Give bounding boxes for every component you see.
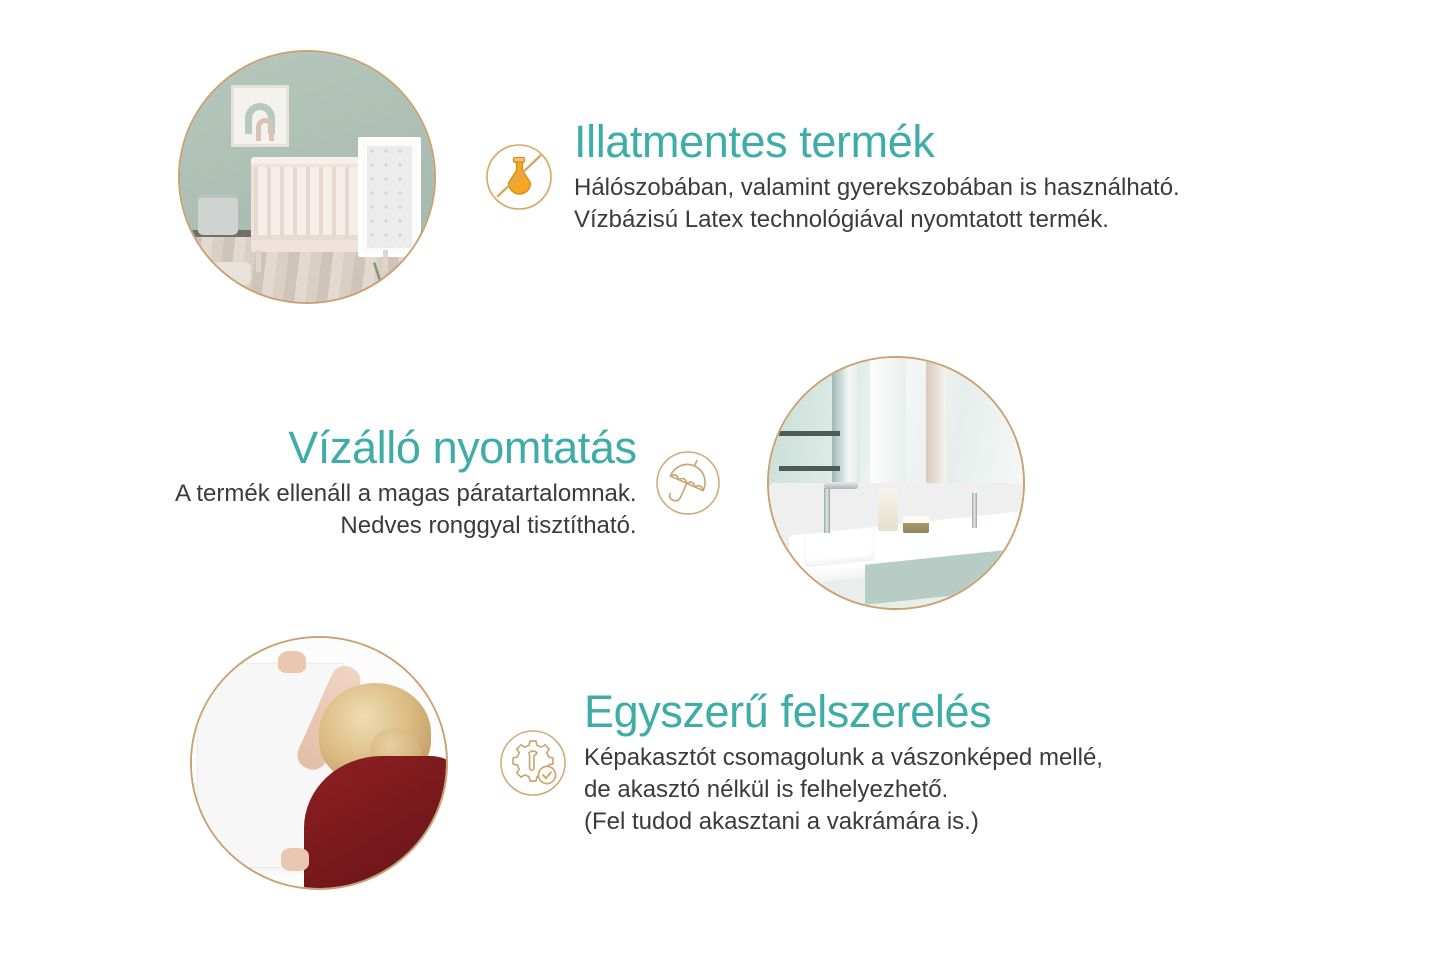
feature-description: Képakasztót csomagolunk a vászonképed me… xyxy=(584,742,1103,838)
bathroom-basin xyxy=(804,527,875,567)
lower-hand xyxy=(281,848,309,871)
crib-headboard xyxy=(358,137,422,257)
soap-bottle xyxy=(878,488,898,531)
nursery-room-photo xyxy=(180,52,434,302)
feature-block-illatmentes-termek: Illatmentes termék Hálószobában, valamin… xyxy=(180,52,1180,302)
chrome-faucet xyxy=(824,488,830,533)
gear-wrench-check-icon xyxy=(496,726,570,800)
hanging-canvas-photo xyxy=(192,638,446,888)
feature-title: Vízálló nyomtatás xyxy=(175,424,637,473)
feature-description-line: Hálószobában, valamint gyerekszobában is… xyxy=(574,172,1180,204)
bathroom-shelf-upper xyxy=(779,431,840,436)
bathroom-sink-photo-art xyxy=(769,358,1023,608)
feature-description-line: A termék ellenáll a magas páratartalomna… xyxy=(175,478,637,510)
toy-object xyxy=(198,195,239,235)
floor-rug xyxy=(195,262,251,285)
feature-block-egyszeru-felszereles: Egyszerű felszerelés Képakasztót csomago… xyxy=(192,638,1103,888)
feature-description-line: Vízbázisú Latex technológiával nyomtatot… xyxy=(574,204,1180,236)
feature-text-vizallo-nyomtatas: Vízálló nyomtatás A termék ellenáll a ma… xyxy=(175,424,637,541)
feature-description-line: de akasztó nélkül is felhelyezhető. xyxy=(584,774,1103,806)
no-fragrance-bottle-icon xyxy=(482,140,556,214)
nursery-art-frame xyxy=(231,85,289,148)
raised-hand xyxy=(278,651,306,674)
feature-description-line: (Fel tudod akasztani a vakrámára is.) xyxy=(584,806,1103,838)
tufted-panel xyxy=(367,146,413,248)
feature-description-line: Nedves ronggyal tisztítható. xyxy=(175,510,637,542)
feature-description: A termék ellenáll a magas páratartalomna… xyxy=(175,478,637,542)
feature-title: Egyszerű felszerelés xyxy=(584,688,1103,737)
rainbow-illustration xyxy=(245,103,274,134)
bathroom-shelf-lower xyxy=(779,466,840,471)
feature-text-egyszeru-felszereles: Egyszerű felszerelés Képakasztót csomago… xyxy=(584,688,1103,837)
feature-text-illatmentes-termek: Illatmentes termék Hálószobában, valamin… xyxy=(574,118,1180,235)
feature-title: Illatmentes termék xyxy=(574,118,1180,167)
crib-slats xyxy=(254,167,361,240)
feature-block-vizallo-nyomtatas: Vízálló nyomtatás A termék ellenáll a ma… xyxy=(175,358,1023,608)
chrome-faucet-secondary xyxy=(972,493,977,528)
feature-description-line: Képakasztót csomagolunk a vászonképed me… xyxy=(584,742,1103,774)
feature-description: Hálószobában, valamint gyerekszobában is… xyxy=(574,172,1180,236)
umbrella-icon xyxy=(651,446,725,520)
hanging-canvas-photo-art xyxy=(192,638,446,888)
nursery-room-photo-art xyxy=(180,52,434,302)
bathroom-sink-photo xyxy=(769,358,1023,608)
feature-highlights-page: Illatmentes termék Hálószobában, valamin… xyxy=(0,0,1445,963)
cosmetic-jar xyxy=(903,516,928,534)
crib-leg-left xyxy=(256,250,261,273)
